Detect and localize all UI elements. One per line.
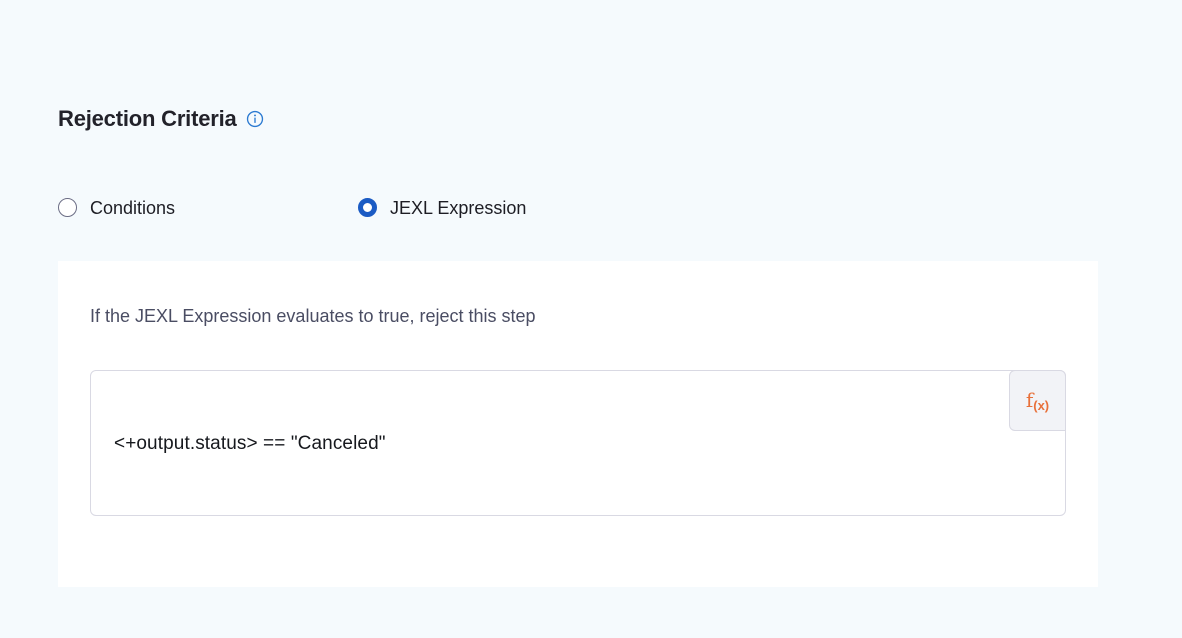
fx-icon: f(x) [1026, 390, 1049, 412]
radio-mark-conditions[interactable] [58, 198, 77, 217]
jexl-expression-input[interactable]: <+output.status> == "Canceled" [90, 370, 1066, 516]
fx-icon-sub: (x) [1033, 398, 1049, 413]
radio-option-jexl-expression[interactable]: JEXL Expression [358, 198, 526, 217]
radio-label-jexl-expression: JEXL Expression [390, 199, 526, 217]
jexl-expression-panel: If the JEXL Expression evaluates to true… [58, 261, 1098, 587]
radio-label-conditions: Conditions [90, 199, 175, 217]
fx-toggle-button[interactable]: f(x) [1009, 370, 1066, 431]
criteria-mode-radio-group: Conditions JEXL Expression [58, 198, 526, 217]
radio-option-conditions[interactable]: Conditions [58, 198, 358, 217]
panel-description: If the JEXL Expression evaluates to true… [90, 307, 536, 325]
section-header: Rejection Criteria [58, 108, 264, 130]
expression-field-wrapper: <+output.status> == "Canceled" f(x) [90, 370, 1066, 516]
page-title: Rejection Criteria [58, 108, 237, 130]
info-circle-icon[interactable] [246, 110, 264, 128]
radio-mark-jexl-expression[interactable] [358, 198, 377, 217]
jexl-expression-value: <+output.status> == "Canceled" [114, 434, 386, 453]
